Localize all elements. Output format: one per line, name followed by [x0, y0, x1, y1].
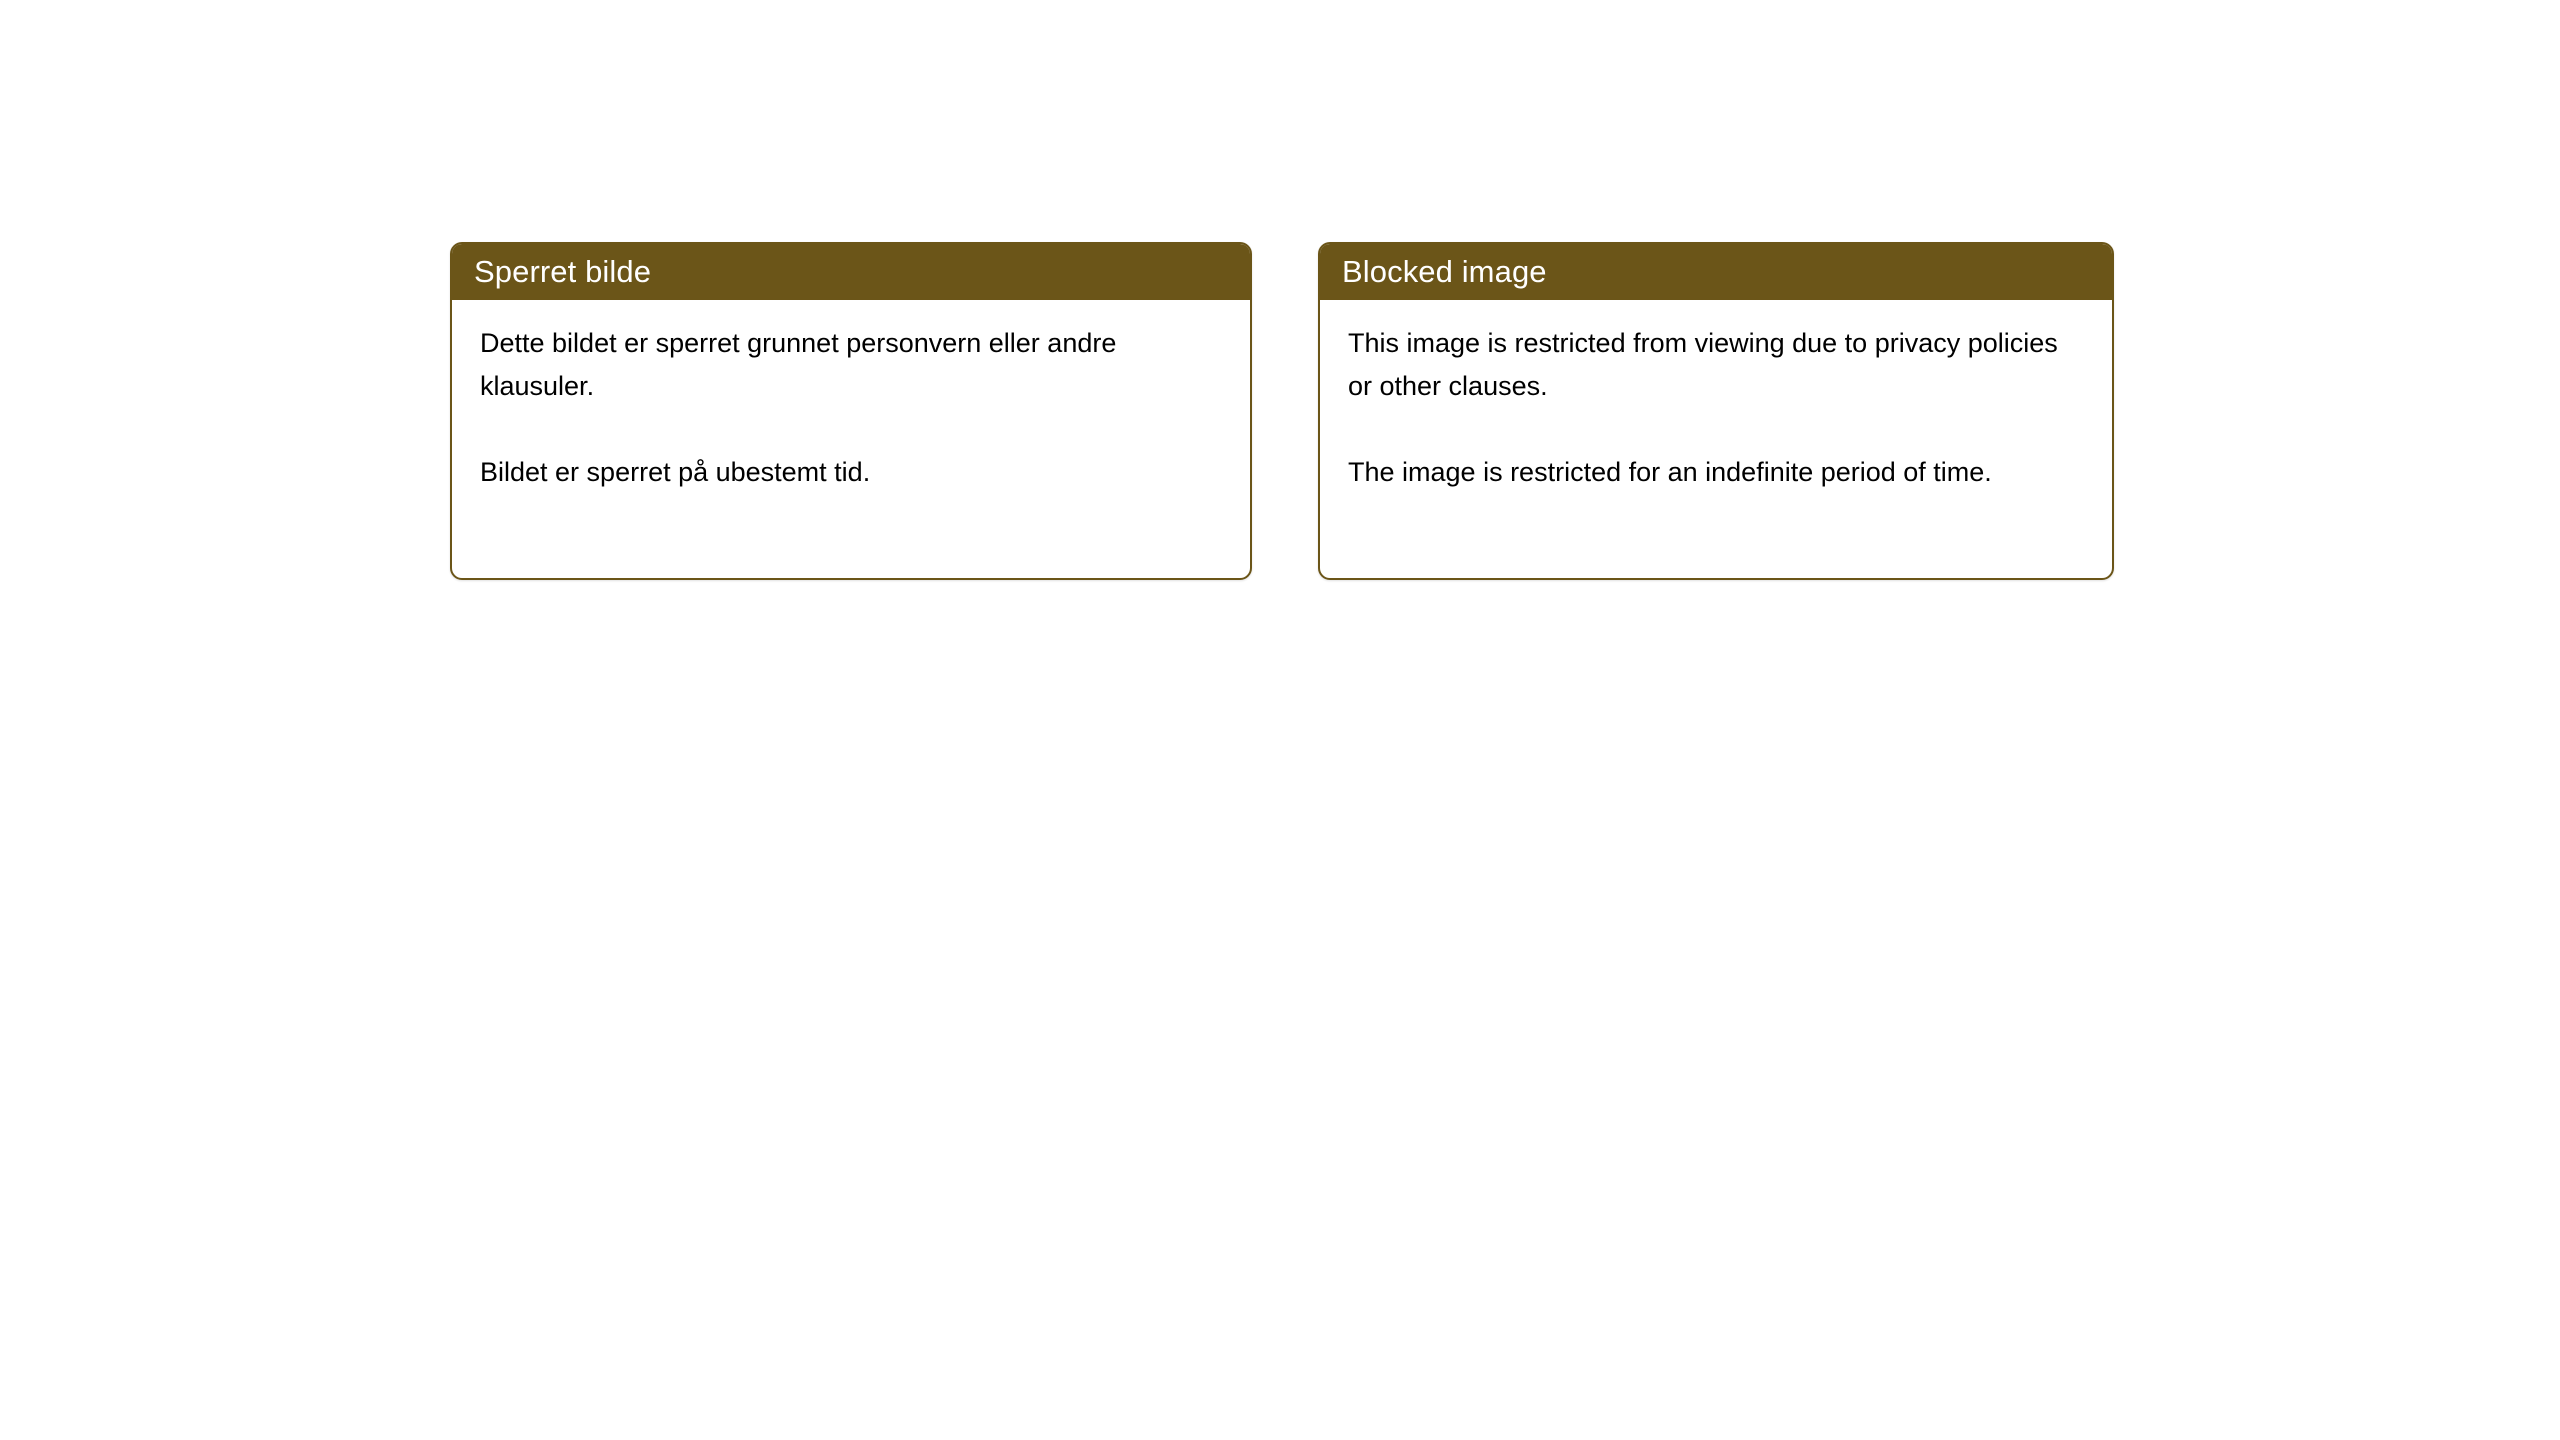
notice-paragraph: Bildet er sperret på ubestemt tid. [480, 451, 1222, 494]
blocked-image-notice-area: Sperret bilde Dette bildet er sperret gr… [0, 0, 2560, 1440]
card-body-norwegian: Dette bildet er sperret grunnet personve… [452, 300, 1250, 494]
card-title-norwegian: Sperret bilde [474, 256, 651, 287]
notice-paragraph: This image is restricted from viewing du… [1348, 322, 2084, 408]
blocked-image-card-english: Blocked image This image is restricted f… [1318, 242, 2114, 580]
notice-paragraph: Dette bildet er sperret grunnet personve… [480, 322, 1222, 408]
card-title-english: Blocked image [1342, 256, 1547, 287]
blocked-image-card-norwegian: Sperret bilde Dette bildet er sperret gr… [450, 242, 1252, 580]
notice-paragraph: The image is restricted for an indefinit… [1348, 451, 2084, 494]
card-header-english: Blocked image [1318, 242, 2114, 300]
card-body-english: This image is restricted from viewing du… [1320, 300, 2112, 494]
card-header-norwegian: Sperret bilde [450, 242, 1252, 300]
